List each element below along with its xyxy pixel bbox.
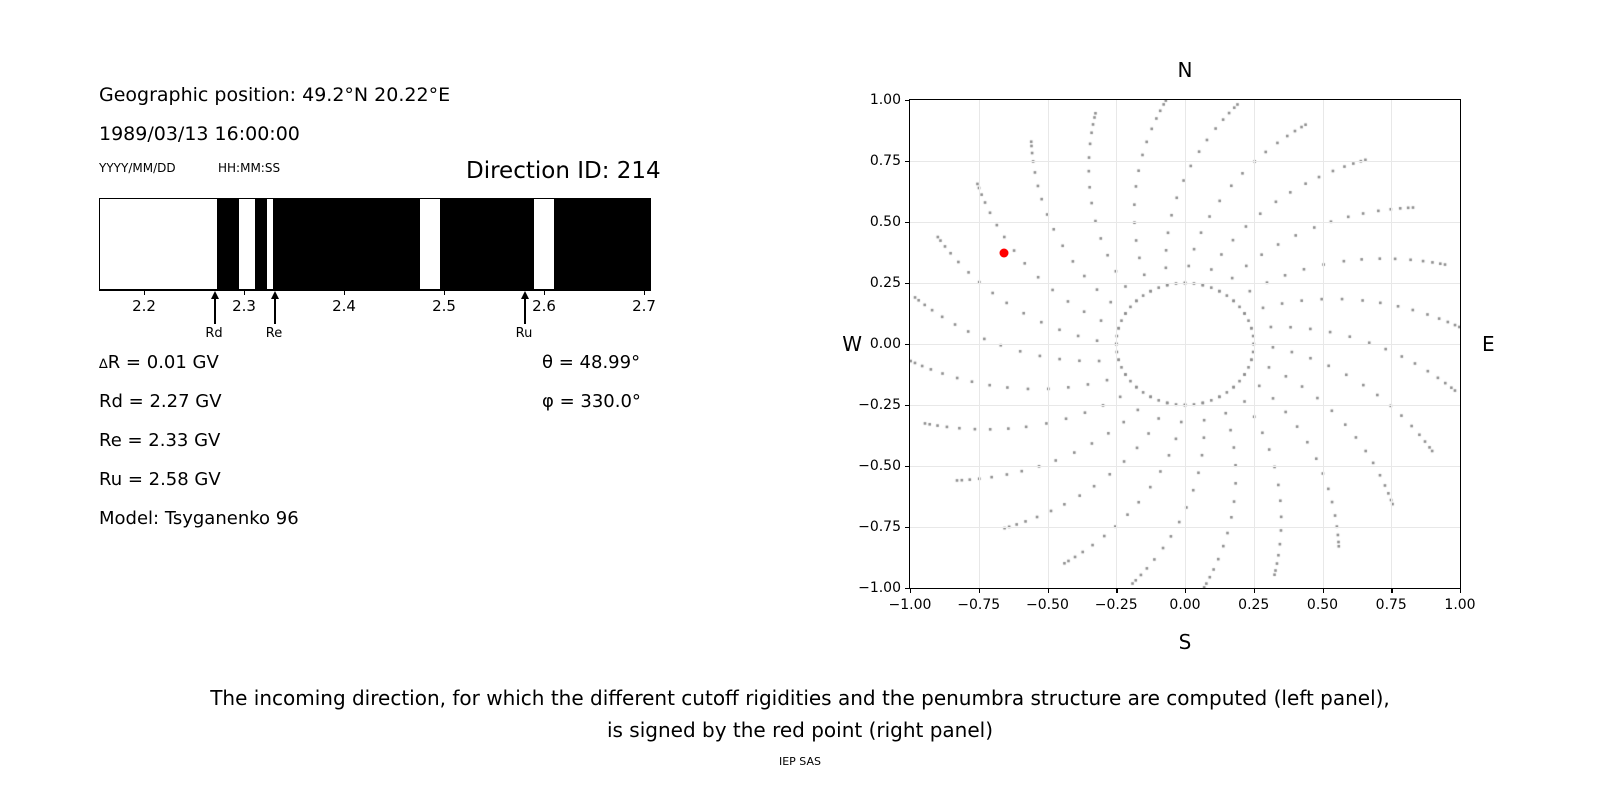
x-axis-tick-label: 0.50 <box>1307 597 1338 613</box>
value-left-text: Re = 2.33 GV <box>99 430 220 451</box>
datetime-label: 1989/03/13 16:00:00 <box>99 123 300 145</box>
figure-caption: The incoming direction, for which the di… <box>0 682 1600 746</box>
date-format-hint: YYYY/MM/DD <box>99 161 176 175</box>
penumbra-axis-tick <box>144 290 145 295</box>
footer-credit: IEP SAS <box>0 755 1600 768</box>
marker-label: Ru <box>516 326 533 341</box>
value-row: Model: Tsyganenko 96 <box>99 508 659 547</box>
x-axis-tick <box>1460 588 1461 593</box>
caption-line-1: The incoming direction, for which the di… <box>0 682 1600 714</box>
time-format-hint: HH:MM:SS <box>218 161 280 175</box>
compass-south-label: S <box>1179 630 1192 654</box>
x-axis-tick-label: −1.00 <box>889 597 932 613</box>
gridline-horizontal <box>910 466 1460 467</box>
delta-symbol: ∆ <box>99 357 108 372</box>
value-left-text: Model: Tsyganenko 96 <box>99 508 299 529</box>
penumbra-axis-tick-label: 2.2 <box>132 297 156 315</box>
y-axis-tick-label: 0.00 <box>870 336 901 352</box>
direction-id-label: Direction ID: 214 <box>466 158 661 184</box>
penumbra-axis-tick-label: 2.6 <box>532 297 556 315</box>
marker-label: Rd <box>205 326 222 341</box>
x-axis-tick-label: −0.75 <box>957 597 1000 613</box>
x-axis-tick-label: 1.00 <box>1444 597 1475 613</box>
penumbra-forbidden-band <box>440 199 534 289</box>
penumbra-axis-tick-label: 2.5 <box>432 297 456 315</box>
value-left-text: Rd = 2.27 GV <box>99 391 222 412</box>
penumbra-forbidden-band <box>217 199 239 289</box>
penumbra-axis-tick <box>644 290 645 295</box>
gridline-horizontal <box>910 222 1460 223</box>
y-axis-tick-label: −0.25 <box>858 397 901 413</box>
penumbra-axis-tick <box>344 290 345 295</box>
x-axis-tick <box>1254 588 1255 593</box>
direction-map-panel: N S W E −1.00−0.75−0.50−0.250.000.250.50… <box>820 40 1520 660</box>
y-axis-tick <box>905 222 910 223</box>
caption-line-2: is signed by the red point (right panel) <box>0 714 1600 746</box>
x-axis-tick <box>979 588 980 593</box>
y-axis-tick-label: 0.50 <box>870 214 901 230</box>
y-axis-tick-label: 0.25 <box>870 275 901 291</box>
y-axis-tick-label: 1.00 <box>870 92 901 108</box>
x-axis-tick <box>1048 588 1049 593</box>
penumbra-forbidden-band <box>273 199 420 289</box>
value-left-text: Ru = 2.58 GV <box>99 469 221 490</box>
value-row: Ru = 2.58 GV <box>99 469 659 508</box>
value-row: ∆R = 0.01 GVθ = 48.99° <box>99 352 659 391</box>
x-axis-tick-label: −0.50 <box>1026 597 1069 613</box>
arrow-up-icon <box>271 291 279 299</box>
y-axis-tick <box>905 466 910 467</box>
y-axis-tick-label: −1.00 <box>858 580 901 596</box>
x-axis-tick <box>1391 588 1392 593</box>
value-right-text: φ = 330.0° <box>542 391 641 412</box>
gridline-horizontal <box>910 161 1460 162</box>
value-left-text: ∆R = 0.01 GV <box>99 352 219 373</box>
y-axis-tick-label: −0.50 <box>858 458 901 474</box>
gridline-horizontal <box>910 405 1460 406</box>
cutoff-values-list: ∆R = 0.01 GVθ = 48.99°Rd = 2.27 GVφ = 33… <box>99 352 659 547</box>
x-axis-tick <box>1116 588 1117 593</box>
x-axis-tick <box>1323 588 1324 593</box>
axis-line <box>99 290 651 291</box>
x-axis-tick-label: 0.75 <box>1376 597 1407 613</box>
penumbra-forbidden-band <box>554 199 651 289</box>
y-axis-tick <box>905 527 910 528</box>
penumbra-panel: Geographic position: 49.2°N 20.22°E 1989… <box>0 0 760 620</box>
penumbra-chart <box>99 198 651 290</box>
compass-east-label: E <box>1482 332 1495 356</box>
y-axis-tick <box>905 100 910 101</box>
penumbra-axis-tick <box>544 290 545 295</box>
y-axis-tick <box>905 283 910 284</box>
y-axis-tick-label: −0.75 <box>858 519 901 535</box>
penumbra-forbidden-band <box>255 199 267 289</box>
x-axis-tick <box>1185 588 1186 593</box>
gridline-horizontal <box>910 527 1460 528</box>
arrow-up-icon <box>521 291 529 299</box>
x-axis-tick-label: 0.00 <box>1169 597 1200 613</box>
y-axis-tick <box>905 161 910 162</box>
marker-label: Re <box>266 326 282 341</box>
arrow-up-icon <box>211 291 219 299</box>
selected-direction-point[interactable] <box>999 248 1008 257</box>
penumbra-bar <box>99 198 651 290</box>
x-axis-tick-label: −0.25 <box>1095 597 1138 613</box>
compass-west-label: W <box>842 332 862 356</box>
x-axis-tick-label: 0.25 <box>1238 597 1269 613</box>
penumbra-axis-tick-label: 2.3 <box>232 297 256 315</box>
penumbra-axis-tick <box>444 290 445 295</box>
penumbra-axis-tick-label: 2.4 <box>332 297 356 315</box>
value-right-text: θ = 48.99° <box>542 352 640 373</box>
geographic-position-label: Geographic position: 49.2°N 20.22°E <box>99 84 450 106</box>
y-axis-tick <box>905 588 910 589</box>
penumbra-axis-tick <box>244 290 245 295</box>
y-axis-tick <box>905 405 910 406</box>
y-axis-tick <box>905 344 910 345</box>
x-axis-tick <box>910 588 911 593</box>
compass-north-label: N <box>1178 58 1193 82</box>
value-row: Re = 2.33 GV <box>99 430 659 469</box>
gridline-horizontal <box>910 283 1460 284</box>
gridline-horizontal <box>910 344 1460 345</box>
penumbra-axis: 2.22.32.42.52.62.7RdReRu <box>99 290 651 350</box>
direction-scatter-plot: N S W E −1.00−0.75−0.50−0.250.000.250.50… <box>909 99 1461 589</box>
y-axis-tick-label: 0.75 <box>870 153 901 169</box>
value-row: Rd = 2.27 GVφ = 330.0° <box>99 391 659 430</box>
penumbra-axis-tick-label: 2.7 <box>632 297 656 315</box>
